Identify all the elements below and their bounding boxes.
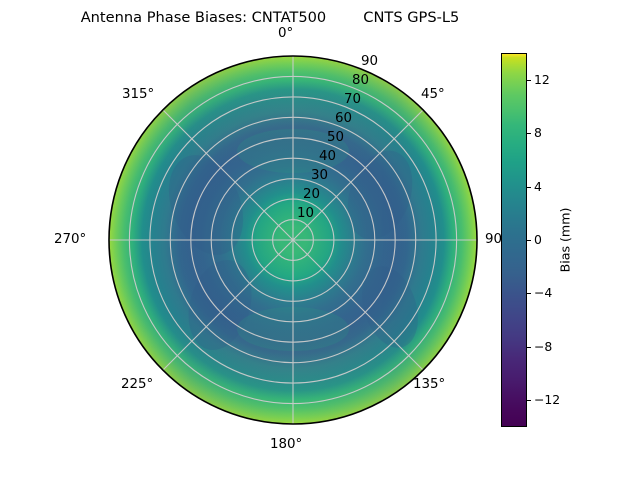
colorbar-gradient xyxy=(501,53,527,427)
colorbar-ticklabel-neg4: −4 xyxy=(534,287,552,299)
azimuth-label-0: 0° xyxy=(278,27,293,40)
radial-label-20: 20 xyxy=(303,188,320,201)
figure-canvas: Antenna Phase Biases: CNTAT500 CNTS GPS-… xyxy=(0,0,640,480)
chart-title: Antenna Phase Biases: CNTAT500 CNTS GPS-… xyxy=(0,9,540,26)
colorbar-tick-8 xyxy=(527,133,531,134)
polar-heatmap xyxy=(108,55,478,425)
colorbar-ticklabel-4: 4 xyxy=(534,180,542,192)
colorbar-axis-label: Bias (mm) xyxy=(560,208,573,273)
colorbar-ticklabel-neg12: −12 xyxy=(534,394,560,406)
polar-grid xyxy=(109,56,477,424)
colorbar-ticklabel-12: 12 xyxy=(534,73,550,85)
colorbar-ticklabel-8: 8 xyxy=(534,127,542,139)
colorbar[interactable]: 12 8 4 0 −4 −8 −12 xyxy=(501,53,527,427)
radial-label-40: 40 xyxy=(319,150,336,163)
azimuth-label-45: 45° xyxy=(421,88,445,101)
radial-label-60: 60 xyxy=(335,112,352,125)
colorbar-tick-12 xyxy=(527,80,531,81)
colorbar-tick-neg8 xyxy=(527,347,531,348)
polar-axes[interactable]: 0° 45° 90 135° 180° 225° 270° 315° 10 20… xyxy=(108,55,478,425)
colorbar-tick-neg4 xyxy=(527,293,531,294)
azimuth-label-315: 315° xyxy=(122,88,154,101)
azimuth-label-90: 90 xyxy=(485,233,502,246)
radial-label-70: 70 xyxy=(344,93,361,106)
azimuth-label-270: 270° xyxy=(54,233,86,246)
colorbar-tick-4 xyxy=(527,187,531,188)
radial-label-10: 10 xyxy=(297,207,314,220)
radial-label-80: 80 xyxy=(352,74,369,87)
azimuth-label-225: 225° xyxy=(121,378,153,391)
radial-label-30: 30 xyxy=(311,169,328,182)
colorbar-tick-neg12 xyxy=(527,400,531,401)
colorbar-ticklabel-neg8: −8 xyxy=(534,341,552,353)
radial-label-90: 90 xyxy=(361,55,378,68)
radial-label-50: 50 xyxy=(327,131,344,144)
azimuth-label-135: 135° xyxy=(413,378,445,391)
colorbar-tick-0 xyxy=(527,240,531,241)
azimuth-label-180: 180° xyxy=(270,438,302,451)
colorbar-ticklabel-0: 0 xyxy=(534,234,542,246)
